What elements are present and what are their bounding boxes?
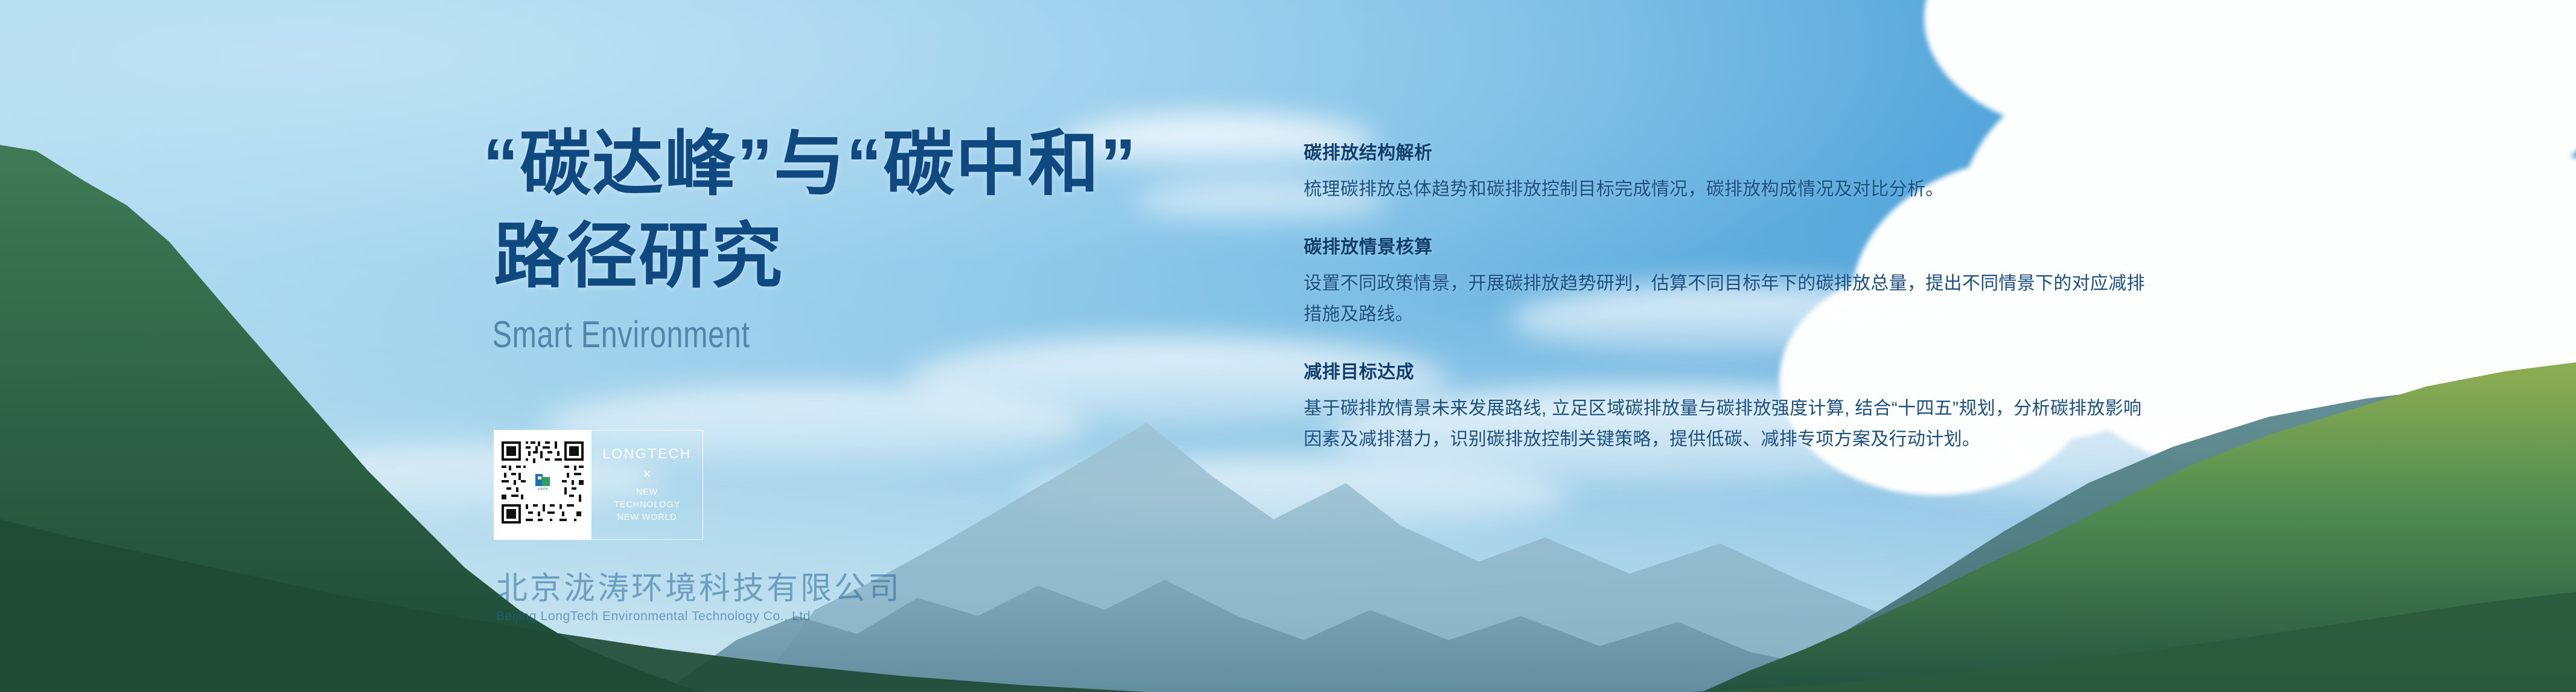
- qr-brand-card[interactable]: 泷涛环境 LONGTECH ✕ NEW TECHNOLOGY NEW WORLD: [494, 430, 703, 540]
- page-subtitle: Smart Environment: [483, 313, 993, 356]
- qr-code-image[interactable]: 泷涛环境: [502, 441, 584, 524]
- brand-separator-icon: ✕: [643, 469, 651, 481]
- hero-banner: “碳达峰”与“碳中和” 路径研究 Smart Environment 碳排放结构…: [0, 0, 2576, 692]
- page-title-line1: “碳达峰”与“碳中和”: [483, 118, 1137, 211]
- info-heading: 碳排放结构解析: [1304, 138, 2149, 164]
- info-section-3: 减排目标达成 基于碳排放情景未来发展路线, 立足区域碳排放量与碳排放强度计算, …: [1304, 357, 2149, 455]
- title-block: “碳达峰”与“碳中和” 路径研究 Smart Environment: [483, 118, 1137, 356]
- info-body: 基于碳排放情景未来发展路线, 立足区域碳排放量与碳排放强度计算, 结合“十四五”…: [1304, 393, 2149, 455]
- watermark-cn: 北京泷涛环境科技有限公司: [496, 563, 902, 608]
- info-body: 梳理碳排放总体趋势和碳排放控制目标完成情况，碳排放构成情况及对比分析。: [1304, 174, 2149, 205]
- brand-tagline-1: NEW: [636, 486, 658, 499]
- qr-code-card[interactable]: 泷涛环境: [494, 430, 591, 540]
- brand-panel: LONGTECH ✕ NEW TECHNOLOGY NEW WORLD: [591, 430, 703, 540]
- brand-tagline-3: NEW WORLD: [617, 511, 677, 524]
- watermark-en: Beijing LongTech Environmental Technolog…: [496, 609, 902, 624]
- info-heading: 减排目标达成: [1304, 357, 2149, 383]
- info-heading: 碳排放情景核算: [1304, 232, 2149, 258]
- brand-name: LONGTECH: [602, 446, 692, 462]
- brand-tagline-2: TECHNOLOGY: [614, 499, 680, 511]
- page-title-line2: 路径研究: [483, 211, 1137, 303]
- info-body: 设置不同政策情景，开展碳排放趋势研判，估算不同目标年下的碳排放总量，提出不同情景…: [1304, 268, 2149, 330]
- qr-logo-caption: 泷涛环境: [538, 487, 548, 491]
- info-column: 碳排放结构解析 梳理碳排放总体趋势和碳排放控制目标完成情况，碳排放构成情况及对比…: [1304, 138, 2149, 455]
- qr-center-logo: 泷涛环境: [529, 469, 556, 496]
- info-section-2: 碳排放情景核算 设置不同政策情景，开展碳排放趋势研判，估算不同目标年下的碳排放总…: [1304, 232, 2149, 330]
- company-watermark: 北京泷涛环境科技有限公司 Beijing LongTech Environmen…: [496, 563, 902, 624]
- info-section-1: 碳排放结构解析 梳理碳排放总体趋势和碳排放控制目标完成情况，碳排放构成情况及对比…: [1304, 138, 2149, 205]
- mountain-ridges: [0, 0, 2576, 692]
- longtech-logo-icon: [535, 474, 550, 486]
